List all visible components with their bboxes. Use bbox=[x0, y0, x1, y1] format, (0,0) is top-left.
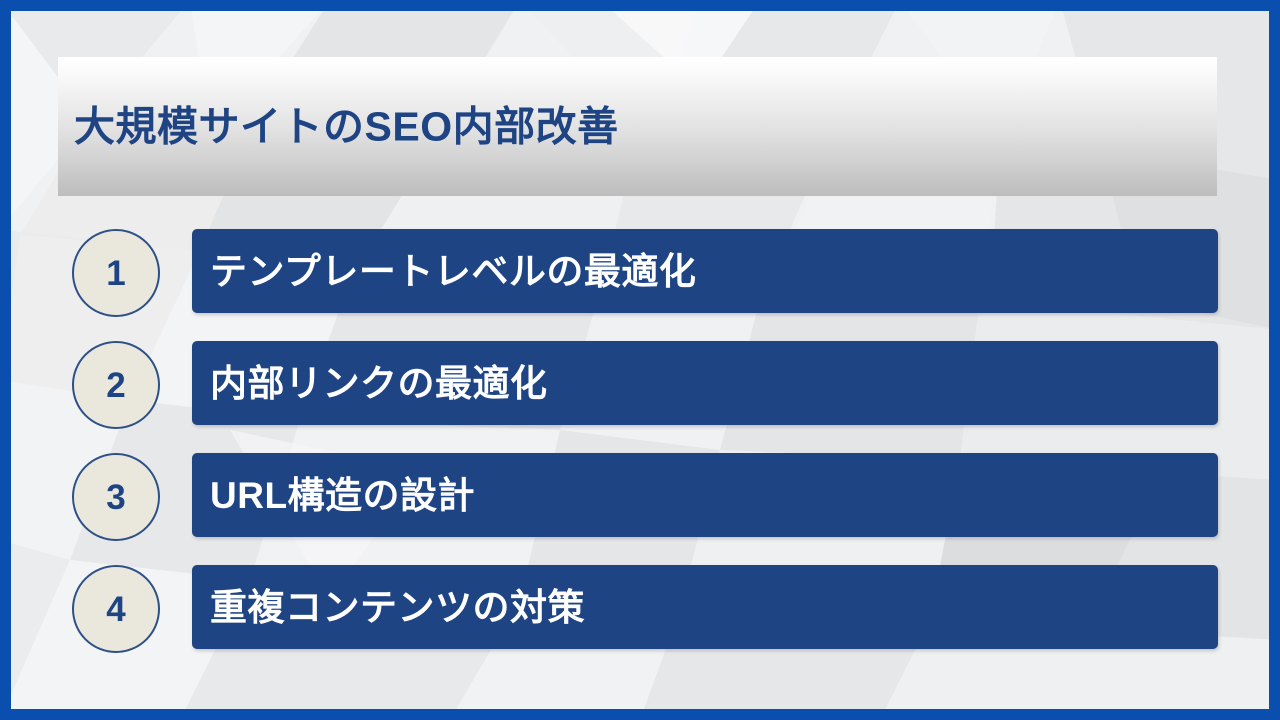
list-item-bar[interactable]: 重複コンテンツの対策 bbox=[192, 565, 1218, 649]
list-item-number-badge: 4 bbox=[72, 565, 160, 653]
list-item-bar[interactable]: 内部リンクの最適化 bbox=[192, 341, 1218, 425]
list-item-number-badge: 3 bbox=[72, 453, 160, 541]
list-item-bar[interactable]: テンプレートレベルの最適化 bbox=[192, 229, 1218, 313]
list-item-label: URL構造の設計 bbox=[192, 477, 475, 514]
list-item[interactable]: 4 重複コンテンツの対策 bbox=[0, 565, 1280, 649]
list-item-number: 1 bbox=[106, 256, 125, 291]
list-item-number-badge: 1 bbox=[72, 229, 160, 317]
page-title: 大規模サイトのSEO内部改善 bbox=[74, 106, 619, 147]
list-item-label: テンプレートレベルの最適化 bbox=[192, 253, 696, 290]
list-item-label: 内部リンクの最適化 bbox=[192, 365, 548, 402]
list-item-number: 2 bbox=[106, 368, 125, 403]
list-item[interactable]: 2 内部リンクの最適化 bbox=[0, 341, 1280, 425]
list-item[interactable]: 1 テンプレートレベルの最適化 bbox=[0, 229, 1280, 313]
list-item-number-badge: 2 bbox=[72, 341, 160, 429]
title-banner: 大規模サイトのSEO内部改善 bbox=[58, 57, 1217, 196]
slide-canvas: 大規模サイトのSEO内部改善 1 テンプレートレベルの最適化 2 内部リンクの最… bbox=[0, 0, 1280, 720]
list-item-number: 3 bbox=[106, 480, 125, 515]
numbered-list: 1 テンプレートレベルの最適化 2 内部リンクの最適化 3 URL構造の設計 bbox=[0, 229, 1280, 649]
list-item[interactable]: 3 URL構造の設計 bbox=[0, 453, 1280, 537]
list-item-number: 4 bbox=[106, 592, 125, 627]
list-item-bar[interactable]: URL構造の設計 bbox=[192, 453, 1218, 537]
list-item-label: 重複コンテンツの対策 bbox=[192, 589, 585, 626]
